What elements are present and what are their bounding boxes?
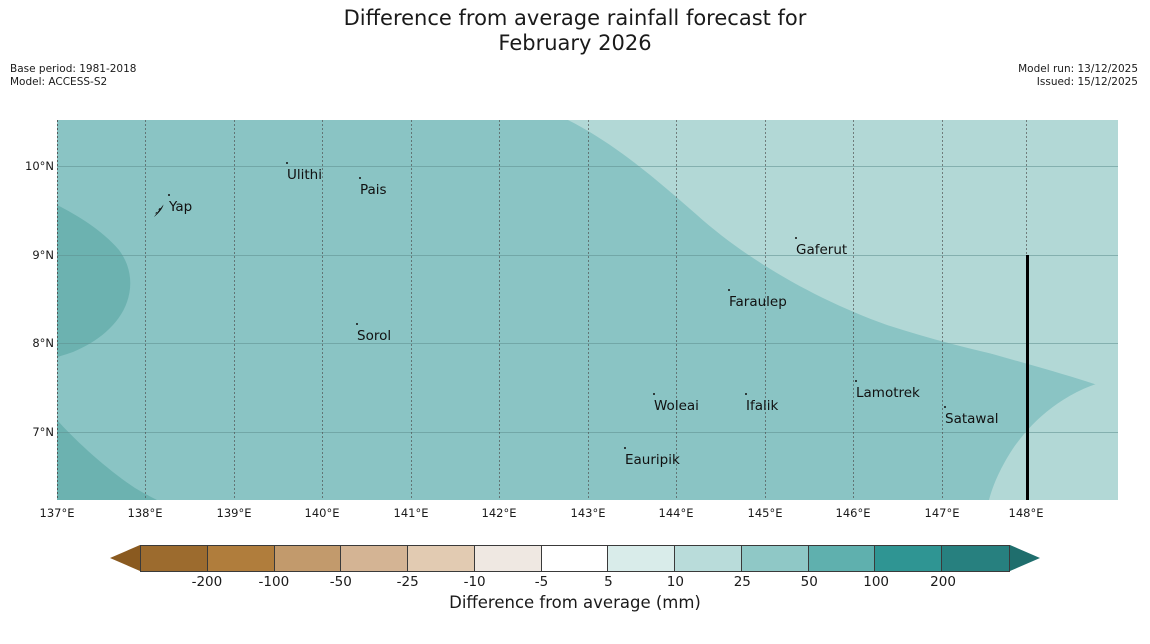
colorbar-segment-6 xyxy=(542,546,609,571)
tick-lon-145e: 145°E xyxy=(748,506,783,520)
model-run-text: Model run: 13/12/2025 xyxy=(1018,63,1138,76)
place-label-gaferut: Gaferut xyxy=(796,242,847,258)
gridline-lon-145e xyxy=(765,120,766,500)
tick-lon-147e: 147°E xyxy=(925,506,960,520)
place-label-faraulep: Faraulep xyxy=(729,294,787,310)
eauripik-text: Eauripik xyxy=(625,452,680,468)
model-text: Model: ACCESS-S2 xyxy=(10,76,136,89)
title-line-1: Difference from average rainfall forecas… xyxy=(344,6,807,30)
tick-lon-148e: 148°E xyxy=(1009,506,1044,520)
place-marker-dot xyxy=(356,323,358,325)
place-label-eauripik: Eauripik xyxy=(625,452,680,468)
issued-text: Issued: 15/12/2025 xyxy=(1018,76,1138,89)
meridian-marker-148e xyxy=(1026,255,1029,500)
colorbar-tick--5: -5 xyxy=(535,574,548,590)
gridline-lon-144e xyxy=(676,120,677,500)
place-label-yap: Yap xyxy=(169,199,192,215)
tick-lat-9n: 9°N xyxy=(32,248,54,262)
gridline-lon-138e-b xyxy=(145,120,146,500)
colorbar-tick--200: -200 xyxy=(192,574,223,590)
colorbar[interactable] xyxy=(140,545,1010,572)
tick-lon-142e: 142°E xyxy=(482,506,517,520)
place-marker-dot xyxy=(855,380,857,382)
tick-lat-8n: 8°N xyxy=(32,336,54,350)
colorbar-segment-3 xyxy=(341,546,408,571)
place-label-sorol: Sorol xyxy=(357,328,391,344)
place-marker-dot xyxy=(653,393,655,395)
tick-lon-138e: 138°E xyxy=(128,506,163,520)
place-marker-dot xyxy=(745,393,747,395)
place-marker-dot xyxy=(795,237,797,239)
place-marker-dot xyxy=(624,447,626,449)
place-label-lamotrek: Lamotrek xyxy=(856,385,920,401)
place-marker-dot xyxy=(944,406,946,408)
base-period-text: Base period: 1981-2018 xyxy=(10,63,136,76)
yap-island-shape xyxy=(151,202,167,220)
tick-lat-10n: 10°N xyxy=(25,159,54,173)
place-marker-dot xyxy=(286,162,288,164)
place-marker-dot xyxy=(359,177,361,179)
colorbar-segment-7 xyxy=(608,546,675,571)
gridline-lon-140e xyxy=(322,120,323,500)
colorbar-tick-200: 200 xyxy=(930,574,956,590)
colorbar-segment-1 xyxy=(208,546,275,571)
colorbar-segment-10 xyxy=(809,546,876,571)
colorbar-segment-9 xyxy=(742,546,809,571)
tick-lon-140e: 140°E xyxy=(305,506,340,520)
colorbar-segment-11 xyxy=(875,546,942,571)
colorbar-segment-8 xyxy=(675,546,742,571)
colorbar-tick--100: -100 xyxy=(259,574,290,590)
colorbar-tick--25: -25 xyxy=(397,574,419,590)
place-marker-dot xyxy=(728,289,730,291)
gridline-lon-139e xyxy=(234,120,235,500)
tick-lon-144e: 144°E xyxy=(659,506,694,520)
gridline-lon-138e xyxy=(57,120,58,500)
colorbar-segment-2 xyxy=(275,546,342,571)
colorbar-tick--10: -10 xyxy=(464,574,486,590)
colorbar-tick-5: 5 xyxy=(604,574,613,590)
colorbar-left-arrow xyxy=(110,545,140,571)
place-marker-dot xyxy=(168,194,170,196)
tick-lon-141e: 141°E xyxy=(394,506,429,520)
gridline-lon-142e xyxy=(499,120,500,500)
place-label-ulithi: Ulithi xyxy=(287,167,322,183)
title-line-2: February 2026 xyxy=(0,31,1150,56)
gridline-lon-143e xyxy=(588,120,589,500)
colorbar-segment-0 xyxy=(141,546,208,571)
metadata-right: Model run: 13/12/2025 Issued: 15/12/2025 xyxy=(1018,63,1138,89)
metadata-left: Base period: 1981-2018 Model: ACCESS-S2 xyxy=(10,63,136,89)
colorbar-tick-100: 100 xyxy=(863,574,889,590)
tick-lat-7n: 7°N xyxy=(32,425,54,439)
forecast-map[interactable]: © Commonwealth of Australia 2025, Bureau… xyxy=(57,120,1118,500)
gridline-lon-147e xyxy=(942,120,943,500)
place-label-ifalik: Ifalik xyxy=(746,398,778,414)
gridline-lon-146e xyxy=(853,120,854,500)
colorbar-axis-label: Difference from average (mm) xyxy=(0,593,1150,612)
tick-lon-137e: 137°E xyxy=(40,506,75,520)
colorbar-tick-25: 25 xyxy=(734,574,751,590)
colorbar-section: -200-100-50-25-10-55102550100200 Differe… xyxy=(0,540,1150,640)
page-title: Difference from average rainfall forecas… xyxy=(0,6,1150,56)
tick-lon-146e: 146°E xyxy=(836,506,871,520)
tick-lon-139e: 139°E xyxy=(217,506,252,520)
colorbar-segment-5 xyxy=(475,546,542,571)
colorbar-tick-50: 50 xyxy=(801,574,818,590)
colorbar-tick--50: -50 xyxy=(330,574,352,590)
tick-lon-143e: 143°E xyxy=(571,506,606,520)
colorbar-right-arrow xyxy=(1010,545,1040,571)
colorbar-segment-12 xyxy=(942,546,1009,571)
colorbar-tick-10: 10 xyxy=(667,574,684,590)
colorbar-segment-4 xyxy=(408,546,475,571)
gridline-lon-141e xyxy=(411,120,412,500)
place-label-woleai: Woleai xyxy=(654,398,699,414)
place-label-pais: Pais xyxy=(360,182,387,198)
place-label-satawal: Satawal xyxy=(945,411,998,427)
